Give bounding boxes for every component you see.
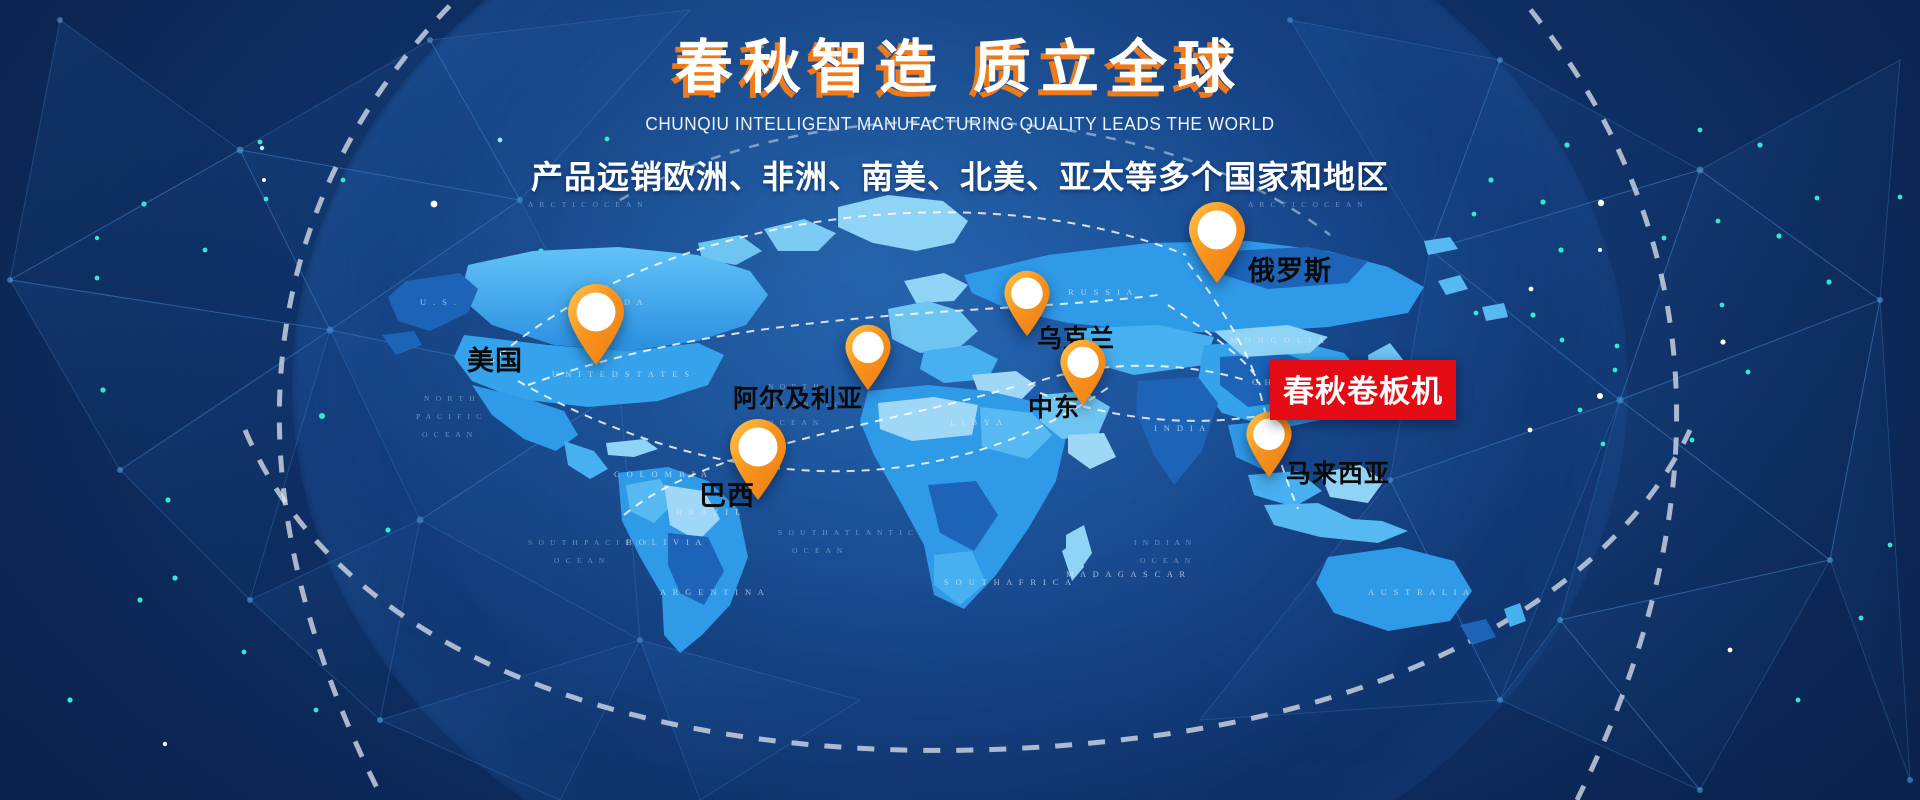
map-marker-russia[interactable]: 俄罗斯	[1186, 200, 1248, 284]
svg-text:A R G E N T I N A: A R G E N T I N A	[660, 587, 766, 597]
svg-text:U . S .: U . S .	[420, 297, 458, 307]
svg-text:I N D I A: I N D I A	[1154, 423, 1208, 433]
map-marker-middleeast[interactable]: 中东	[1058, 338, 1108, 406]
map-marker-malaysia[interactable]: 马来西亚	[1244, 410, 1294, 478]
location-pin-icon	[843, 323, 893, 391]
main-title: 春秋智造 质立全球	[0, 36, 1920, 101]
svg-text:B O L I V I A: B O L I V I A	[626, 537, 704, 547]
world-map: A R C T I C O C E A N A R C T I C O C E …	[368, 185, 1548, 655]
map-marker-brazil[interactable]: 巴西	[727, 417, 789, 501]
map-marker-label-usa: 美国	[467, 348, 523, 375]
svg-text:A R C T I C O C E A N: A R C T I C O C E A N	[528, 200, 645, 209]
svg-text:O C E A N: O C E A N	[1140, 556, 1192, 565]
world-map-svg: A R C T I C O C E A N A R C T I C O C E …	[368, 185, 1548, 655]
chinese-subtitle: 产品远销欧洲、非洲、南美、北美、亚太等多个国家和地区	[0, 152, 1920, 198]
svg-text:N O R T H: N O R T H	[424, 394, 477, 403]
svg-text:M A D A G A S C A R: M A D A G A S C A R	[1066, 569, 1187, 579]
svg-text:O C E A N: O C E A N	[554, 556, 606, 565]
english-subtitle: CHUNQIU INTELLIGENT MANUFACTURING QUALIT…	[67, 113, 1853, 135]
map-marker-label-malaysia: 马来西亚	[1286, 462, 1390, 487]
banner-text-block: 春秋智造 质立全球 CHUNQIU INTELLIGENT MANUFACTUR…	[0, 36, 1920, 198]
svg-text:S O U T H A T L A N T I C: S O U T H A T L A N T I C	[778, 528, 915, 537]
map-marker-ukraine[interactable]: 乌克兰	[1002, 269, 1052, 337]
svg-text:P A C I F I C: P A C I F I C	[416, 412, 484, 421]
svg-text:A R C T I C O C E A N: A R C T I C O C E A N	[1248, 200, 1365, 209]
banner-stage: 春秋智造 质立全球 CHUNQIU INTELLIGENT MANUFACTUR…	[0, 0, 1920, 800]
svg-text:S O U T H A F R I C A: S O U T H A F R I C A	[944, 577, 1073, 587]
svg-text:R U S S I A: R U S S I A	[1068, 287, 1135, 297]
location-pin-icon	[565, 282, 627, 366]
svg-text:M O N G O L I A: M O N G O L I A	[1230, 335, 1326, 345]
map-marker-usa[interactable]: 美国	[565, 282, 627, 366]
map-marker-label-middleeast: 中东	[1028, 396, 1080, 421]
svg-text:O C E A N: O C E A N	[792, 546, 844, 555]
svg-text:A U S T R A L I A: A U S T R A L I A	[1368, 587, 1471, 597]
svg-text:I N D I A N: I N D I A N	[1134, 538, 1193, 547]
svg-text:L I B Y A: L I B Y A	[950, 417, 1005, 427]
location-pin-icon	[1186, 200, 1248, 284]
svg-text:O C E A N: O C E A N	[422, 430, 474, 439]
map-marker-label-algeria: 阿尔及利亚	[733, 387, 863, 412]
map-marker-algeria[interactable]: 阿尔及利亚	[843, 323, 893, 391]
map-marker-label-russia: 俄罗斯	[1248, 258, 1332, 285]
brand-badge[interactable]: 春秋卷板机	[1270, 360, 1456, 420]
map-marker-label-brazil: 巴西	[699, 483, 755, 510]
